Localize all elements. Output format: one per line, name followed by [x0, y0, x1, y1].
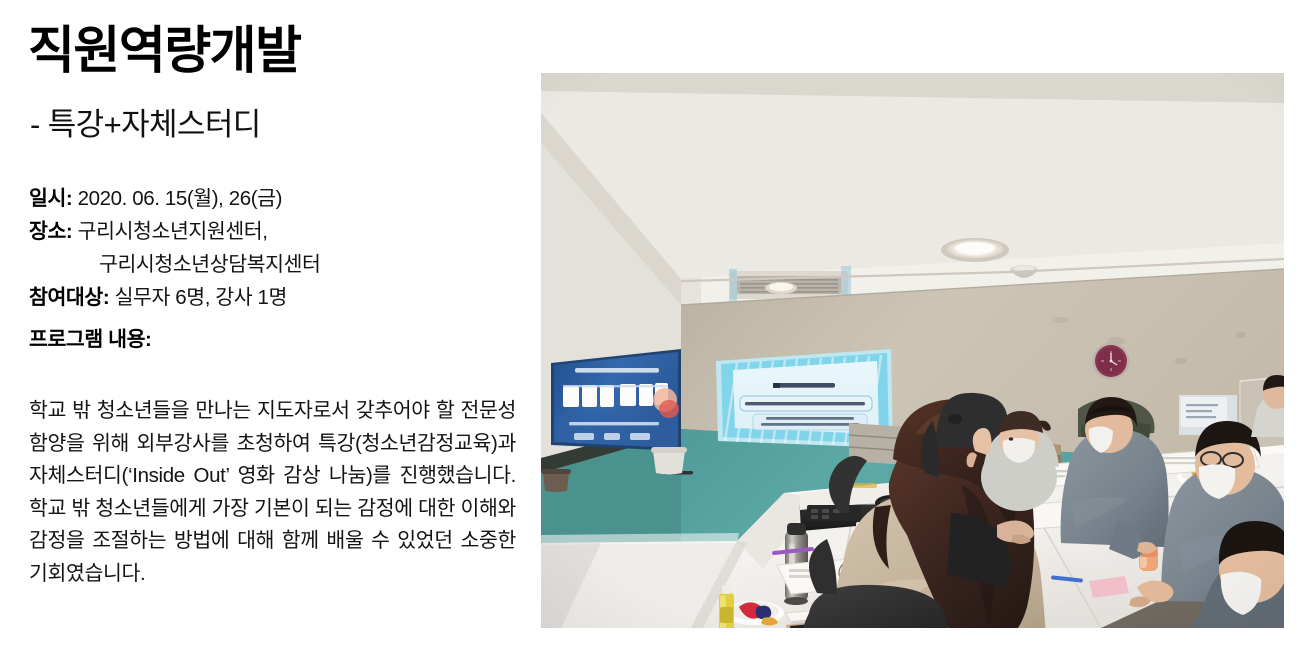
meta-row-place-2: 구리시청소년상담복지센터	[29, 248, 519, 281]
place-value-line2: 구리시청소년상담복지센터	[99, 253, 321, 276]
metadata-list: 일시: 2020. 06. 15(월), 26(금) 장소: 구리시청소년지원센…	[29, 182, 519, 356]
meta-row-date: 일시: 2020. 06. 15(월), 26(금)	[29, 182, 519, 215]
participants-label: 참여대상:	[29, 286, 109, 309]
text-column: 직원역량개발 - 특강+자체스터디 일시: 2020. 06. 15(월), 2…	[28, 0, 520, 651]
place-value: 구리시청소년지원센터,	[78, 220, 268, 243]
event-photo-illustration	[541, 73, 1284, 628]
meta-row-participants: 참여대상: 실무자 6명, 강사 1명	[29, 281, 519, 314]
page-subtitle: - 특강+자체스터디	[30, 106, 261, 143]
page-title: 직원역량개발	[28, 22, 301, 79]
poster-page: 직원역량개발 - 특강+자체스터디 일시: 2020. 06. 15(월), 2…	[0, 0, 1313, 651]
date-label: 일시:	[29, 187, 72, 210]
program-description: 학교 밖 청소년들을 만나는 지도자로서 갖추어야 할 전문성 함양을 위해 외…	[29, 395, 516, 591]
place-label: 장소:	[29, 220, 72, 243]
meta-row-place: 장소: 구리시청소년지원센터,	[29, 215, 519, 248]
program-content-label: 프로그램 내용:	[29, 323, 519, 356]
date-value: 2020. 06. 15(월), 26(금)	[78, 187, 282, 210]
participants-value: 실무자 6명, 강사 1명	[115, 286, 287, 309]
event-photo	[541, 73, 1284, 628]
